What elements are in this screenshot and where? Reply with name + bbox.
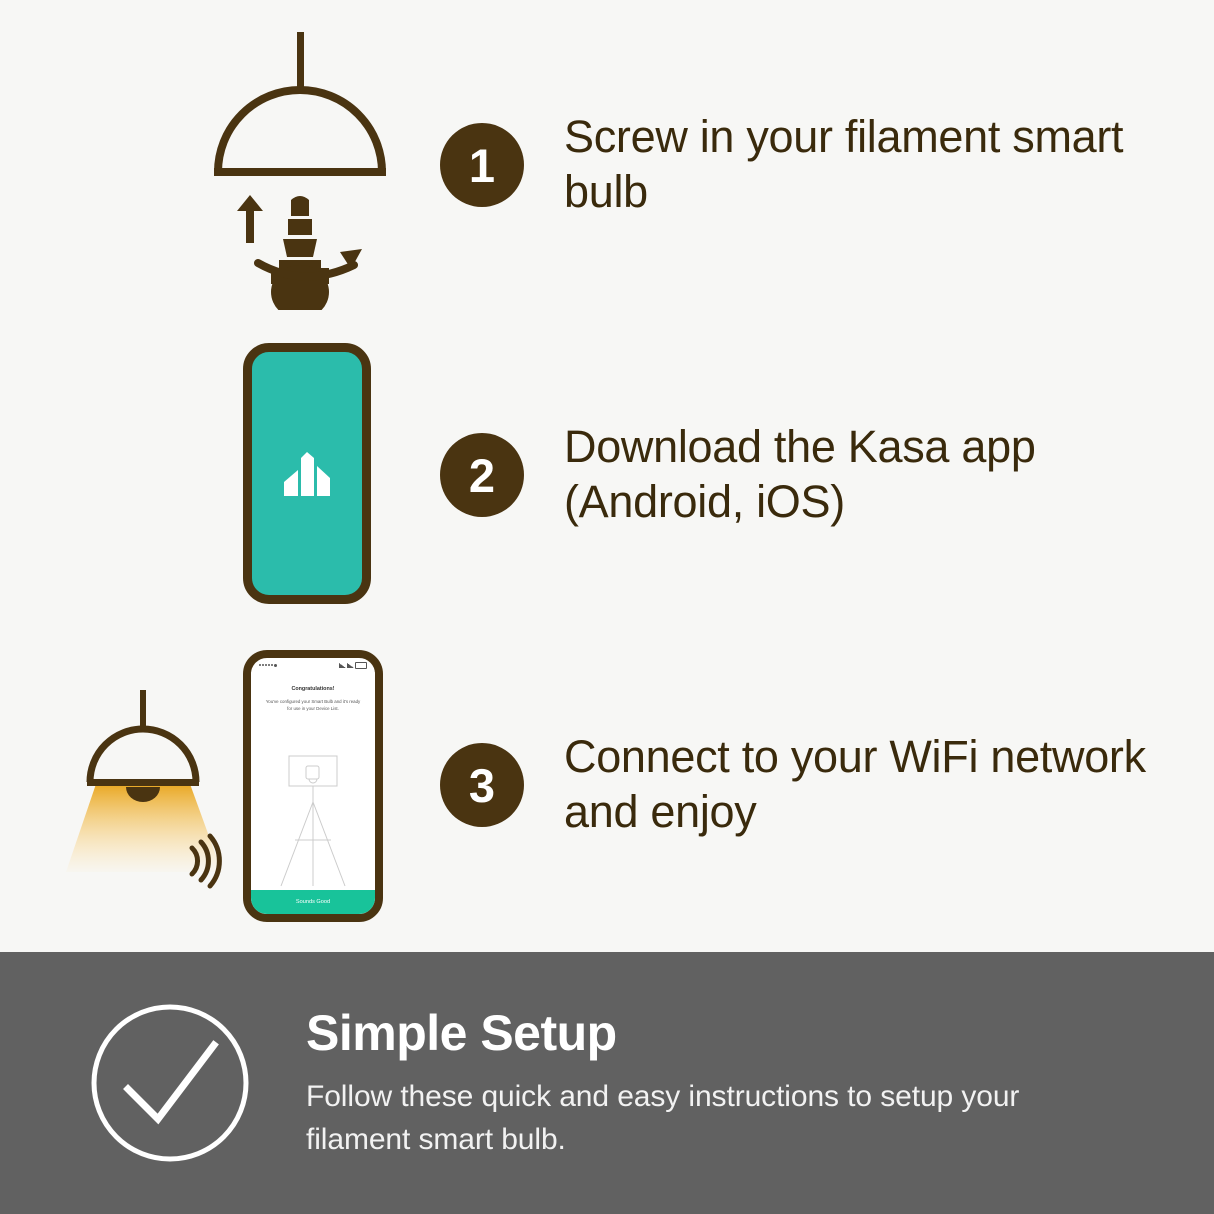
status-bar-right-icons bbox=[339, 662, 367, 669]
battery-icon bbox=[355, 662, 367, 669]
setup-step-2: 2 Download the Kasa app (Android, iOS) bbox=[0, 330, 1214, 620]
phone-status-bar bbox=[251, 658, 375, 672]
kasa-logo-icon bbox=[278, 448, 336, 500]
step-3-label: Connect to your WiFi network and enjoy bbox=[564, 730, 1184, 840]
setup-step-3: Congratulations! You've configured your … bbox=[0, 640, 1214, 930]
phone-screenshot-mockup: Congratulations! You've configured your … bbox=[243, 650, 383, 922]
lit-lamp-wifi-icon bbox=[60, 676, 250, 896]
setup-step-1: 1 Screw in your filament smart bulb bbox=[0, 20, 1214, 310]
step-3-number-badge: 3 bbox=[440, 743, 524, 827]
simple-setup-banner: Simple Setup Follow these quick and easy… bbox=[0, 952, 1214, 1214]
configured-message: You've configured your Smart Bulb and it… bbox=[251, 699, 375, 712]
sounds-good-button[interactable]: Sounds Good bbox=[251, 890, 375, 914]
pendant-lamp-screw-in-bulb-icon bbox=[0, 20, 440, 310]
kasa-app-phone-icon bbox=[243, 343, 371, 604]
step-1-visual bbox=[0, 20, 440, 310]
tripod-floor-lamp-illustration bbox=[251, 740, 375, 890]
step-3-visual: Congratulations! You've configured your … bbox=[0, 640, 440, 930]
phone-screen-body: Congratulations! You've configured your … bbox=[251, 672, 375, 890]
congratulations-heading: Congratulations! bbox=[251, 686, 375, 692]
banner-title: Simple Setup bbox=[306, 1004, 1106, 1062]
signal-dots-icon bbox=[259, 664, 277, 667]
step-2-label: Download the Kasa app (Android, iOS) bbox=[564, 420, 1184, 530]
step-2-visual bbox=[0, 330, 440, 620]
setup-steps-section: 1 Screw in your filament smart bulb 2 Do… bbox=[0, 0, 1214, 952]
check-circle-icon bbox=[86, 999, 254, 1167]
banner-description: Follow these quick and easy instructions… bbox=[306, 1076, 1106, 1161]
wifi-icon bbox=[347, 663, 354, 668]
step-2-number-badge: 2 bbox=[440, 433, 524, 517]
step-1-number-badge: 1 bbox=[440, 123, 524, 207]
banner-text-block: Simple Setup Follow these quick and easy… bbox=[306, 1004, 1106, 1161]
signal-bars-icon bbox=[339, 663, 346, 668]
step-1-label: Screw in your filament smart bulb bbox=[564, 110, 1184, 220]
